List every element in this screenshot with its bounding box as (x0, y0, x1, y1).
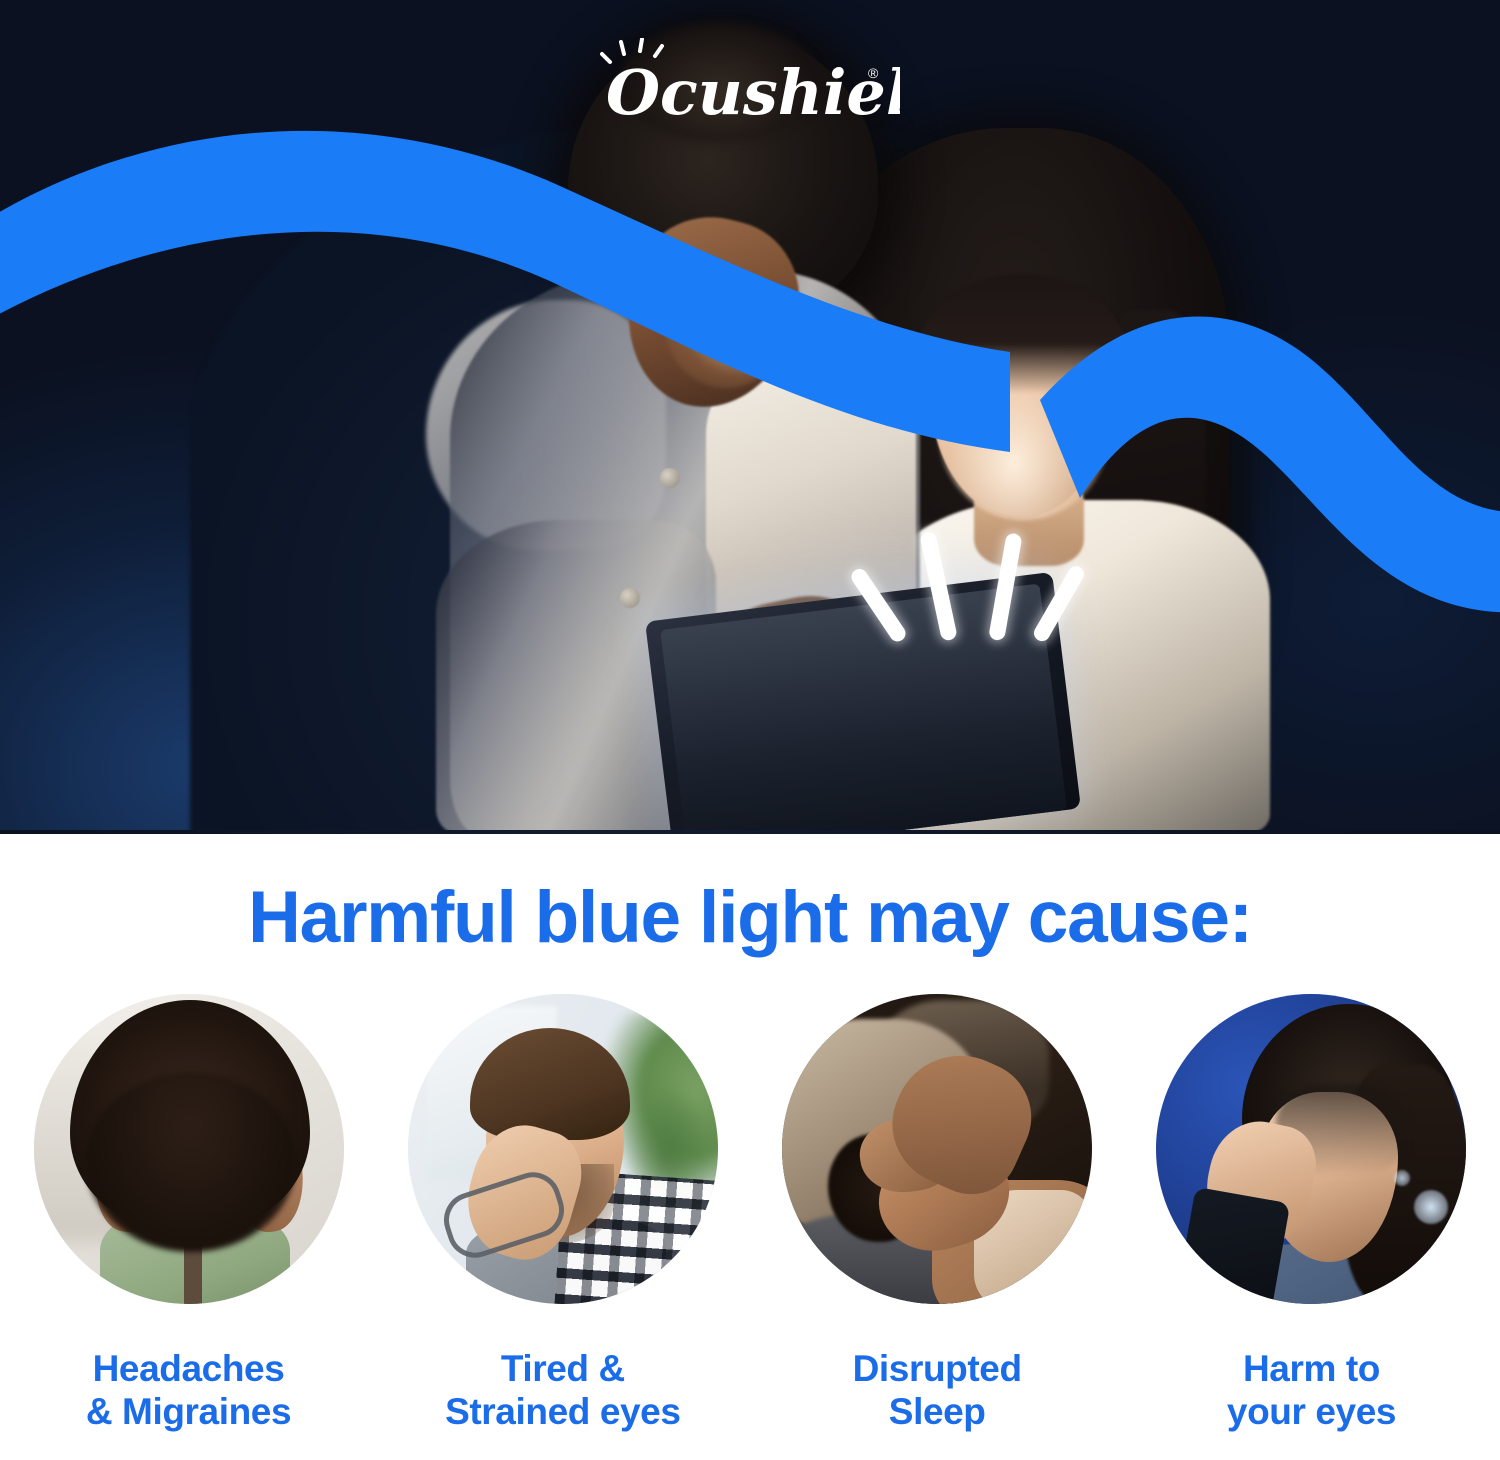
ocushield-logo: Ocushield ® (600, 38, 900, 130)
woman-with-phone-at-night-photo-icon (1156, 994, 1466, 1304)
marketing-infographic: Ocushield ® Harmful blue light may cause… (0, 0, 1500, 1460)
symptom-card-tired-eyes: Tired & Strained eyes (390, 994, 735, 1434)
screen-light-rays-icon (890, 500, 1070, 640)
symptom-card-list: Headaches & Migraines Tired & Strained e… (0, 994, 1500, 1434)
symptom-caption: Headaches & Migraines (86, 1348, 291, 1434)
symptom-caption: Disrupted Sleep (853, 1348, 1022, 1434)
hero-banner: Ocushield ® (0, 0, 1500, 834)
symptom-caption: Tired & Strained eyes (445, 1348, 680, 1434)
symptom-caption: Harm to your eyes (1227, 1348, 1396, 1434)
benefits-panel: Harmful blue light may cause: Headaches … (0, 834, 1500, 1460)
symptom-card-disrupted-sleep: Disrupted Sleep (765, 994, 1110, 1434)
logo-wordmark: Ocushield (606, 56, 900, 129)
logo-trademark: ® (868, 65, 879, 81)
jacket-button-upper (660, 468, 680, 488)
page-headline: Harmful blue light may cause: (0, 876, 1500, 959)
jacket-button-lower (620, 588, 640, 608)
symptom-card-eye-harm: Harm to your eyes (1139, 994, 1484, 1434)
symptom-card-headaches: Headaches & Migraines (16, 994, 361, 1434)
woman-awake-in-bed-photo-icon (782, 994, 1092, 1304)
woman-holding-head-photo-icon (34, 994, 344, 1304)
man-rubbing-eyes-photo-icon (408, 994, 718, 1304)
